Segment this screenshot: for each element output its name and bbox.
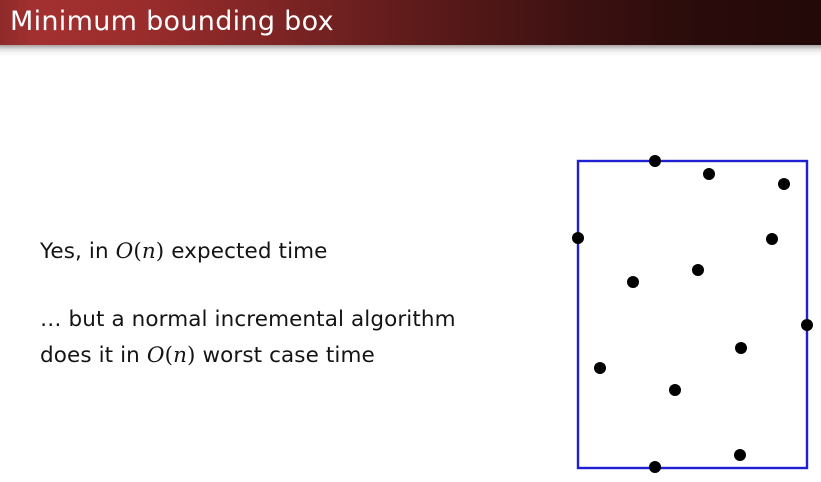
data-point-left-extreme [572,232,584,244]
paragraph-1-text-after: expected time [164,239,327,264]
page-title: Minimum bounding box [10,3,334,41]
data-point-top-extreme [649,155,661,167]
data-point-interior-2 [778,178,790,190]
data-point-interior-7 [594,362,606,374]
big-o-variable-1: n [142,239,156,264]
data-point-interior-3 [766,233,778,245]
minimum-bounding-box-figure [560,145,821,482]
title-bar-shadow [0,45,821,57]
big-o-open-paren-1: ( [133,239,142,264]
data-point-interior-5 [627,276,639,288]
big-o-open-paren-2: ( [165,343,174,368]
data-point-interior-9 [734,449,746,461]
data-point-right-extreme [801,319,813,331]
data-point-bottom-extreme [649,461,661,473]
point-set [572,155,813,473]
big-o-notation-1: O(n) [116,239,165,264]
paragraph-worst-case: … but a normal incremental algorithm doe… [40,302,510,374]
paragraph-expected-time: Yes, in O(n) expected time [40,234,510,270]
data-point-interior-4 [692,264,704,276]
bounding-box-rectangle [578,161,807,468]
paragraph-1-text-before: Yes, in [40,239,116,264]
slide-body: Yes, in O(n) expected time … but a norma… [40,234,510,374]
slide-title-bar: Minimum bounding box [0,0,821,45]
big-o-notation-2: O(n) [147,343,196,368]
big-o-close-paren-2: ) [187,343,196,368]
data-point-interior-8 [669,384,681,396]
big-o-variable-2: n [173,343,187,368]
data-point-interior-1 [703,168,715,180]
paragraph-2-text-after: worst case time [196,343,375,368]
big-o-symbol-1: O [116,239,134,264]
big-o-symbol-2: O [147,343,165,368]
data-point-interior-6 [735,342,747,354]
